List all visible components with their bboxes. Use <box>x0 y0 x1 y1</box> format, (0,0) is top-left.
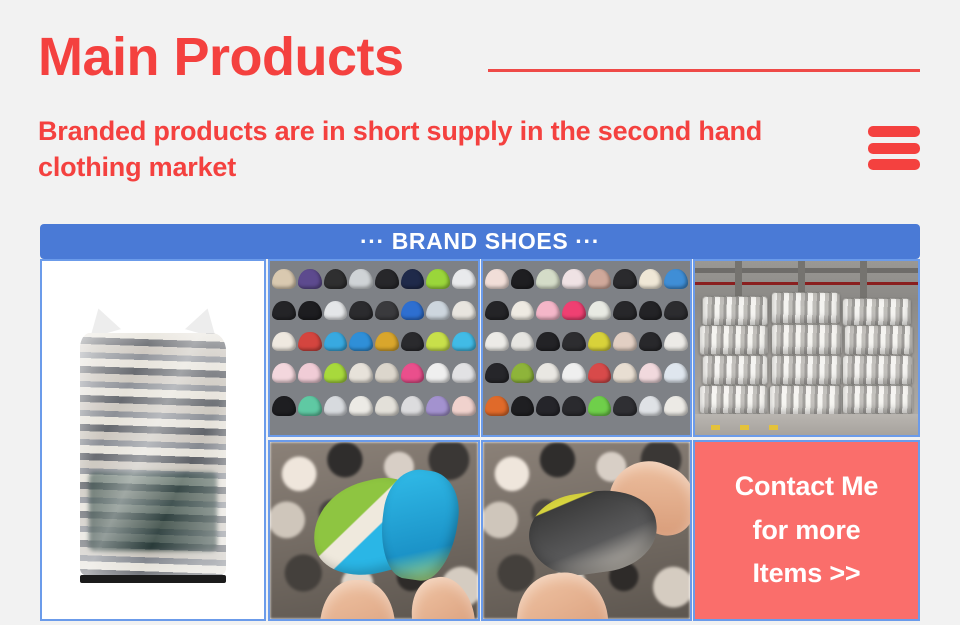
product-image-shoe-rows-sorted[interactable] <box>481 259 692 437</box>
product-image-warehouse-bales[interactable] <box>693 259 920 437</box>
bagged-shoes-photo <box>42 261 264 619</box>
hamburger-bar-bottom <box>868 159 920 170</box>
hamburger-menu-icon[interactable] <box>868 126 920 170</box>
contact-line-1: Contact Me <box>735 465 879 509</box>
contact-line-3: Items >> <box>753 552 861 596</box>
product-image-shoe-rows-assorted[interactable] <box>268 259 480 437</box>
bag-base-shadow <box>80 575 227 583</box>
brand-shoes-banner: ··· BRAND SHOES ··· <box>40 224 920 259</box>
product-image-bagged-shoes-bale[interactable] <box>40 259 266 621</box>
page-header: Main Products Branded products are in sh… <box>0 0 960 216</box>
contact-me-cta-text: Contact Me for more Items >> <box>695 442 918 619</box>
page-subtitle: Branded products are in short supply in … <box>38 114 828 186</box>
shoe-rows-sorted-photo <box>483 261 690 435</box>
warehouse-bales-photo <box>695 261 918 435</box>
title-divider-rule <box>488 69 920 72</box>
product-image-hand-holding-sneaker[interactable] <box>268 440 480 621</box>
bag-plastic-sheen <box>80 333 227 576</box>
brand-shoes-banner-label: ··· BRAND SHOES ··· <box>360 230 600 253</box>
contact-me-cta[interactable]: Contact Me for more Items >> <box>693 440 920 621</box>
shoe-rows-assorted-photo <box>270 261 478 435</box>
page-title: Main Products <box>38 30 404 84</box>
contact-line-2: for more <box>753 509 861 553</box>
product-image-hands-inspecting-sole[interactable] <box>481 440 692 621</box>
product-image-grid: Contact Me for more Items >> <box>40 259 920 621</box>
hamburger-bar-top <box>868 126 920 137</box>
hamburger-bar-middle <box>868 143 920 154</box>
